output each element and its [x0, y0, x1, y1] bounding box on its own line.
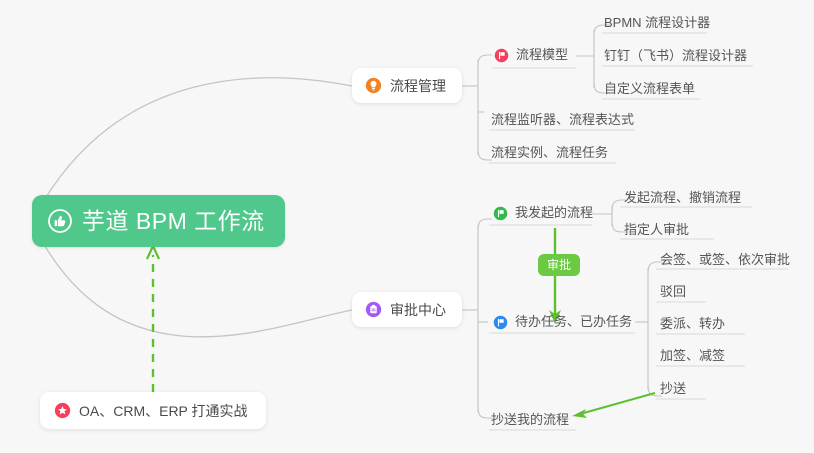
- node-process-listener-expression-label: 流程监听器、流程表达式: [491, 113, 634, 127]
- link-root-to-process-management: [36, 78, 352, 214]
- node-process-instance-task[interactable]: 流程实例、流程任务: [487, 142, 614, 165]
- node-start-cancel-process-label: 发起流程、撤销流程: [624, 191, 741, 205]
- node-cc-to-me-process[interactable]: 抄送我的流程: [487, 409, 575, 432]
- arrow-cc-to-cc-to-me: [580, 393, 655, 414]
- node-cc-to-me-process-label: 抄送我的流程: [491, 413, 569, 427]
- clipboard-icon: [365, 301, 382, 318]
- node-bpmn-designer-label: BPMN 流程设计器: [604, 16, 710, 30]
- node-todo-done-tasks-label: 待办任务、已办任务: [515, 315, 632, 329]
- node-add-remove-sign[interactable]: 加签、减签: [656, 345, 731, 368]
- thumbs-up-icon: [48, 209, 72, 233]
- branch-approval-center-label: 审批中心: [390, 303, 446, 317]
- node-reject-label: 驳回: [660, 285, 686, 299]
- footnote-label: OA、CRM、ERP 打通实战: [79, 404, 248, 418]
- red-star-icon: [54, 402, 71, 419]
- lightbulb-icon: [365, 77, 382, 94]
- node-custom-process-form[interactable]: 自定义流程表单: [600, 78, 701, 101]
- branch-approval-center[interactable]: 审批中心: [352, 292, 462, 327]
- root-label: 芋道 BPM 工作流: [82, 210, 265, 233]
- node-custom-process-form-label: 自定义流程表单: [604, 82, 695, 96]
- node-designated-approver-label: 指定人审批: [624, 223, 689, 237]
- node-todo-done-tasks[interactable]: 待办任务、已办任务: [489, 311, 638, 335]
- mindmap-canvas: 芋道 BPM 工作流 流程管理 流程模型 BPMN 流程设计器 钉钉（飞书）流: [0, 0, 814, 453]
- node-my-initiated-process[interactable]: 我发起的流程: [489, 202, 599, 226]
- node-dingtalk-feishu-designer-label: 钉钉（飞书）流程设计器: [604, 49, 747, 63]
- node-reject[interactable]: 驳回: [656, 281, 692, 304]
- approval-badge[interactable]: 审批: [538, 254, 580, 276]
- node-countersign-orsign-sequential[interactable]: 会签、或签、依次审批: [656, 249, 796, 272]
- arrowhead-footnote-to-root: [147, 246, 159, 259]
- branch-process-management-label: 流程管理: [390, 79, 446, 93]
- node-add-remove-sign-label: 加签、减签: [660, 349, 725, 363]
- node-delegate-transfer[interactable]: 委派、转办: [656, 313, 731, 336]
- footnote-node[interactable]: OA、CRM、ERP 打通实战: [40, 392, 266, 429]
- green-flag-icon: [493, 206, 508, 221]
- node-designated-approver[interactable]: 指定人审批: [620, 219, 695, 242]
- node-my-initiated-process-label: 我发起的流程: [515, 206, 593, 220]
- node-bpmn-designer[interactable]: BPMN 流程设计器: [600, 12, 716, 35]
- node-cc[interactable]: 抄送: [656, 378, 692, 401]
- node-process-model-label: 流程模型: [516, 48, 568, 62]
- node-process-model[interactable]: 流程模型: [490, 44, 574, 68]
- node-delegate-transfer-label: 委派、转办: [660, 317, 725, 331]
- red-flag-icon: [494, 48, 509, 63]
- node-process-instance-task-label: 流程实例、流程任务: [491, 146, 608, 160]
- node-dingtalk-feishu-designer[interactable]: 钉钉（飞书）流程设计器: [600, 45, 753, 68]
- node-start-cancel-process[interactable]: 发起流程、撤销流程: [620, 187, 747, 210]
- node-countersign-orsign-sequential-label: 会签、或签、依次审批: [660, 253, 790, 267]
- branch-process-management[interactable]: 流程管理: [352, 68, 462, 103]
- node-process-listener-expression[interactable]: 流程监听器、流程表达式: [487, 109, 640, 132]
- root-node[interactable]: 芋道 BPM 工作流: [32, 195, 285, 247]
- node-cc-label: 抄送: [660, 382, 686, 396]
- blue-flag-icon: [493, 315, 508, 330]
